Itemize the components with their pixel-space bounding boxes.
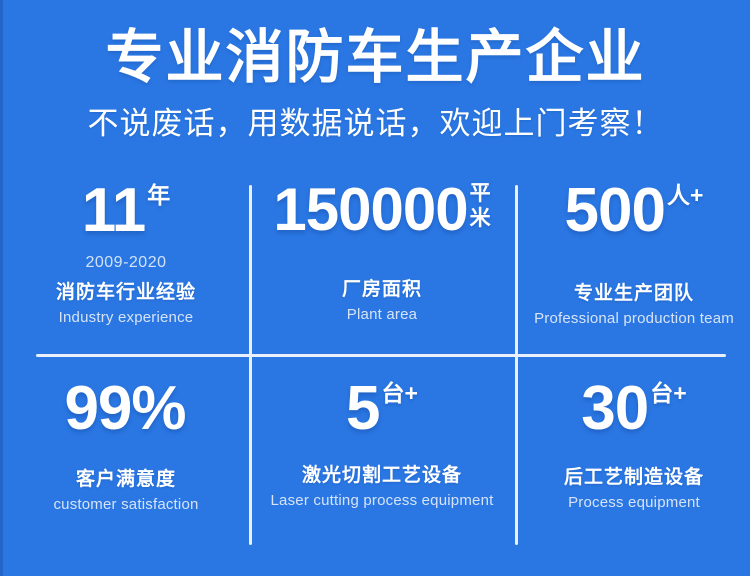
stat-label-en: Industry experience (59, 309, 194, 326)
stat-unit: 年 (147, 183, 170, 207)
stat-label-en: Professional production team (534, 310, 734, 327)
stat-label-en: Process equipment (568, 494, 700, 511)
stat-value: 150000 (273, 180, 467, 240)
stat-value-group: 500 人+ (565, 180, 704, 242)
stat-label-en: Laser cutting process equipment (271, 492, 494, 509)
stat-cell-laser-cutting-equipment: 5 台+ 激光切割工艺设备 Laser cutting process equi… (249, 354, 515, 552)
stat-cell-customer-satisfaction: 99% 客户满意度 customer satisfaction (3, 354, 249, 552)
stat-value-group: 99% (64, 378, 187, 440)
stat-label-cn: 专业生产团队 (574, 278, 694, 305)
stats-grid: 11 年 2009-2020 消防车行业经验 Industry experien… (3, 180, 750, 552)
page-title: 专业消防车生产企业 (3, 0, 748, 91)
stat-unit: 平 米 (470, 182, 491, 232)
stat-label-cn: 消防车行业经验 (56, 277, 196, 304)
stat-label-cn: 客户满意度 (76, 464, 176, 491)
stat-value: 11 (82, 180, 146, 242)
stat-unit-char-1: 平 (470, 182, 491, 207)
stat-value-group: 5 台+ (346, 378, 418, 440)
stat-value-group: 150000 平 米 (273, 180, 490, 240)
stat-label-en: Plant area (347, 306, 417, 323)
stat-value: 5 (346, 378, 379, 440)
stat-value: 500 (565, 180, 665, 242)
stat-unit: 台+ (650, 381, 686, 405)
stat-cell-process-equipment: 30 台+ 后工艺制造设备 Process equipment (515, 354, 750, 552)
stat-value: 99% (64, 378, 185, 440)
stat-cell-industry-experience: 11 年 2009-2020 消防车行业经验 Industry experien… (3, 180, 249, 354)
stat-unit: 台+ (382, 381, 418, 405)
stat-range: 2009-2020 (85, 254, 166, 272)
page-subtitle: 不说废话，用数据说话，欢迎上门考察！ (3, 91, 748, 142)
stat-value-group: 30 台+ (581, 378, 686, 440)
promo-poster: 专业消防车生产企业 不说废话，用数据说话，欢迎上门考察！ 11 年 2009-2… (0, 0, 750, 576)
stat-value: 30 (581, 378, 648, 440)
poster-header: 专业消防车生产企业 不说废话，用数据说话，欢迎上门考察！ (3, 0, 748, 142)
stat-value-group: 11 年 (82, 180, 171, 242)
stat-label-cn: 激光切割工艺设备 (302, 460, 462, 487)
stat-cell-production-team: 500 人+ 专业生产团队 Professional production te… (515, 180, 750, 354)
stat-unit-char-2: 米 (470, 207, 491, 232)
stat-unit: 人+ (667, 183, 703, 207)
stat-label-en: customer satisfaction (53, 496, 198, 513)
stat-label-cn: 厂房面积 (342, 274, 422, 301)
stat-label-cn: 后工艺制造设备 (564, 462, 704, 489)
stat-cell-plant-area: 150000 平 米 厂房面积 Plant area (249, 180, 515, 354)
